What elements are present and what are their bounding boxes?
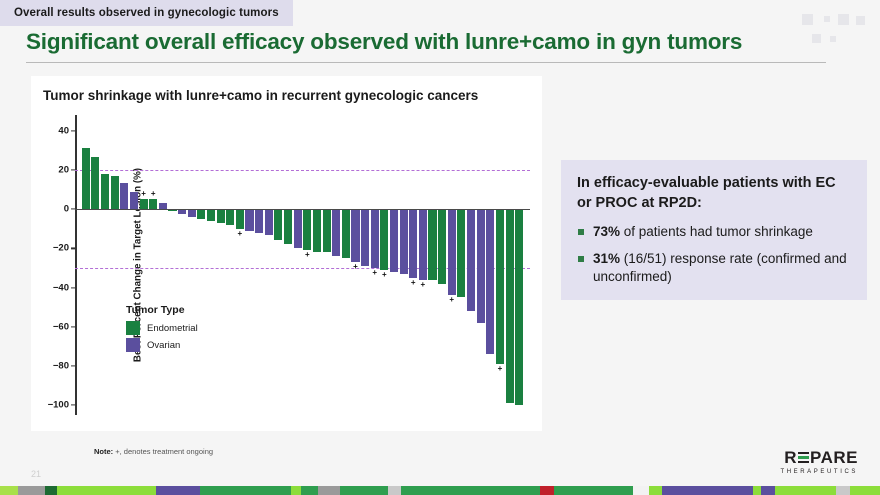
slide: Overall results observed in gynecologic … — [0, 0, 880, 495]
treatment-ongoing-marker: + — [411, 279, 416, 287]
strip-segment — [388, 486, 402, 495]
callout-heading: In efficacy-evaluable patients with EC o… — [577, 174, 853, 213]
bar — [371, 209, 379, 268]
company-logo: R PARE THERAPEUTICS — [780, 449, 858, 475]
bar — [457, 209, 465, 297]
strip-segment — [836, 486, 850, 495]
bar — [419, 209, 427, 280]
callout-bullet-list: 73% of patients had tumor shrinkage31% (… — [577, 223, 853, 285]
logo-wordmark: R PARE — [780, 449, 858, 466]
strip-segment — [649, 486, 663, 495]
legend-swatch-ovarian — [126, 338, 140, 352]
bar — [120, 183, 128, 209]
bar — [294, 209, 302, 248]
y-axis-line — [75, 115, 77, 415]
bar — [303, 209, 311, 250]
bar — [226, 209, 234, 225]
y-tick-label: 0 — [64, 204, 69, 215]
y-tick-label: 20 — [58, 164, 69, 175]
bar — [245, 209, 253, 231]
bar — [448, 209, 456, 295]
bullet-text: of patients had tumor shrinkage — [620, 224, 813, 239]
bullet-stat: 31% — [593, 251, 620, 266]
strip-segment — [401, 486, 539, 495]
strip-segment — [200, 486, 291, 495]
bullet-square-icon — [578, 229, 584, 235]
footnote-label: Note: — [94, 447, 113, 456]
bar — [284, 209, 292, 244]
bar — [149, 199, 157, 209]
bar — [236, 209, 244, 229]
chart-card: Tumor shrinkage with lunre+camo in recur… — [31, 76, 542, 431]
bullet-square-icon — [578, 256, 584, 262]
bar — [361, 209, 369, 266]
treatment-ongoing-marker: + — [421, 281, 426, 289]
strip-segment — [301, 486, 319, 495]
strip-segment — [156, 486, 200, 495]
y-tick-mark — [71, 365, 75, 366]
treatment-ongoing-marker: + — [305, 251, 310, 259]
strip-segment — [340, 486, 387, 495]
strip-segment — [633, 486, 649, 495]
strip-segment — [775, 486, 836, 495]
bar — [409, 209, 417, 278]
bar — [496, 209, 504, 364]
treatment-ongoing-marker: + — [372, 269, 377, 277]
bar — [101, 174, 109, 209]
strip-segment — [0, 486, 18, 495]
bar — [467, 209, 475, 311]
bar — [217, 209, 225, 223]
chart-footnote: Note: +, denotes treatment ongoing — [94, 447, 213, 456]
chart-title: Tumor shrinkage with lunre+camo in recur… — [43, 88, 478, 103]
strip-segment — [761, 486, 775, 495]
strip-segment — [554, 486, 633, 495]
bullet-text: (16/51) response rate (confirmed and unc… — [593, 251, 847, 284]
treatment-ongoing-marker: + — [238, 230, 243, 238]
page-title: Significant overall efficacy observed wi… — [26, 29, 826, 55]
bar — [438, 209, 446, 284]
strip-segment — [753, 486, 761, 495]
y-tick-mark — [71, 326, 75, 327]
strip-segment — [45, 486, 57, 495]
bar — [140, 199, 148, 209]
y-tick-mark — [71, 287, 75, 288]
logo-text-right: PARE — [810, 449, 858, 466]
treatment-ongoing-marker: + — [498, 365, 503, 373]
bar — [342, 209, 350, 258]
logo-tagline: THERAPEUTICS — [780, 469, 858, 475]
bar — [390, 209, 398, 272]
logo-text-left: R — [784, 449, 797, 466]
legend-label-endometrial: Endometrial — [147, 323, 198, 334]
strip-segment — [318, 486, 340, 495]
bar — [400, 209, 408, 274]
bar — [477, 209, 485, 323]
y-tick-label: 40 — [58, 125, 69, 136]
bullet-stat: 73% — [593, 224, 620, 239]
bar — [428, 209, 436, 280]
callout-bullet: 31% (16/51) response rate (confirmed and… — [577, 250, 853, 286]
bar — [130, 192, 138, 209]
treatment-ongoing-marker: + — [353, 263, 358, 271]
legend-item-ovarian: Ovarian — [126, 338, 198, 352]
legend-title: Tumor Type — [126, 304, 198, 316]
strip-segment — [850, 486, 880, 495]
legend-item-endometrial: Endometrial — [126, 321, 198, 335]
treatment-ongoing-marker: + — [449, 296, 454, 304]
treatment-ongoing-marker: + — [141, 190, 146, 198]
logo-e-icon — [798, 451, 809, 464]
bar — [82, 148, 90, 209]
bar — [351, 209, 359, 262]
eyebrow-text: Overall results observed in gynecologic … — [14, 7, 279, 19]
bar — [486, 209, 494, 354]
title-divider — [26, 62, 826, 63]
strip-segment — [18, 486, 46, 495]
bar — [255, 209, 263, 233]
bar — [111, 176, 119, 209]
eyebrow-tab: Overall results observed in gynecologic … — [0, 0, 293, 26]
bottom-color-strip — [0, 486, 880, 495]
bar — [323, 209, 331, 252]
y-tick-label: −20 — [53, 243, 69, 254]
callout-bullet: 73% of patients had tumor shrinkage — [577, 223, 853, 241]
threshold-line — [75, 170, 530, 171]
chart-legend: Tumor Type Endometrial Ovarian — [126, 304, 198, 355]
legend-swatch-endometrial — [126, 321, 140, 335]
waterfall-plot: Best Percent Change in Target Lesion (%)… — [75, 115, 530, 415]
treatment-ongoing-marker: + — [151, 190, 156, 198]
bar — [274, 209, 282, 240]
bar — [265, 209, 273, 234]
page-number: 21 — [31, 469, 41, 479]
y-tick-label: −60 — [53, 321, 69, 332]
strip-segment — [662, 486, 753, 495]
y-tick-mark — [71, 248, 75, 249]
bar — [207, 209, 215, 221]
strip-segment — [540, 486, 554, 495]
legend-label-ovarian: Ovarian — [147, 340, 180, 351]
zero-baseline — [75, 209, 530, 210]
y-tick-label: −80 — [53, 360, 69, 371]
footnote-text: +, denotes treatment ongoing — [113, 447, 213, 456]
y-tick-mark — [71, 130, 75, 131]
bar — [313, 209, 321, 252]
bar — [197, 209, 205, 219]
y-tick-label: −40 — [53, 282, 69, 293]
bar — [380, 209, 388, 270]
bar — [506, 209, 514, 403]
bar — [91, 157, 99, 209]
y-tick-label: −100 — [48, 400, 69, 411]
treatment-ongoing-marker: + — [382, 271, 387, 279]
summary-callout: In efficacy-evaluable patients with EC o… — [561, 160, 867, 300]
bar — [515, 209, 523, 405]
bar — [332, 209, 340, 256]
strip-segment — [57, 486, 156, 495]
y-tick-mark — [71, 405, 75, 406]
strip-segment — [291, 486, 301, 495]
